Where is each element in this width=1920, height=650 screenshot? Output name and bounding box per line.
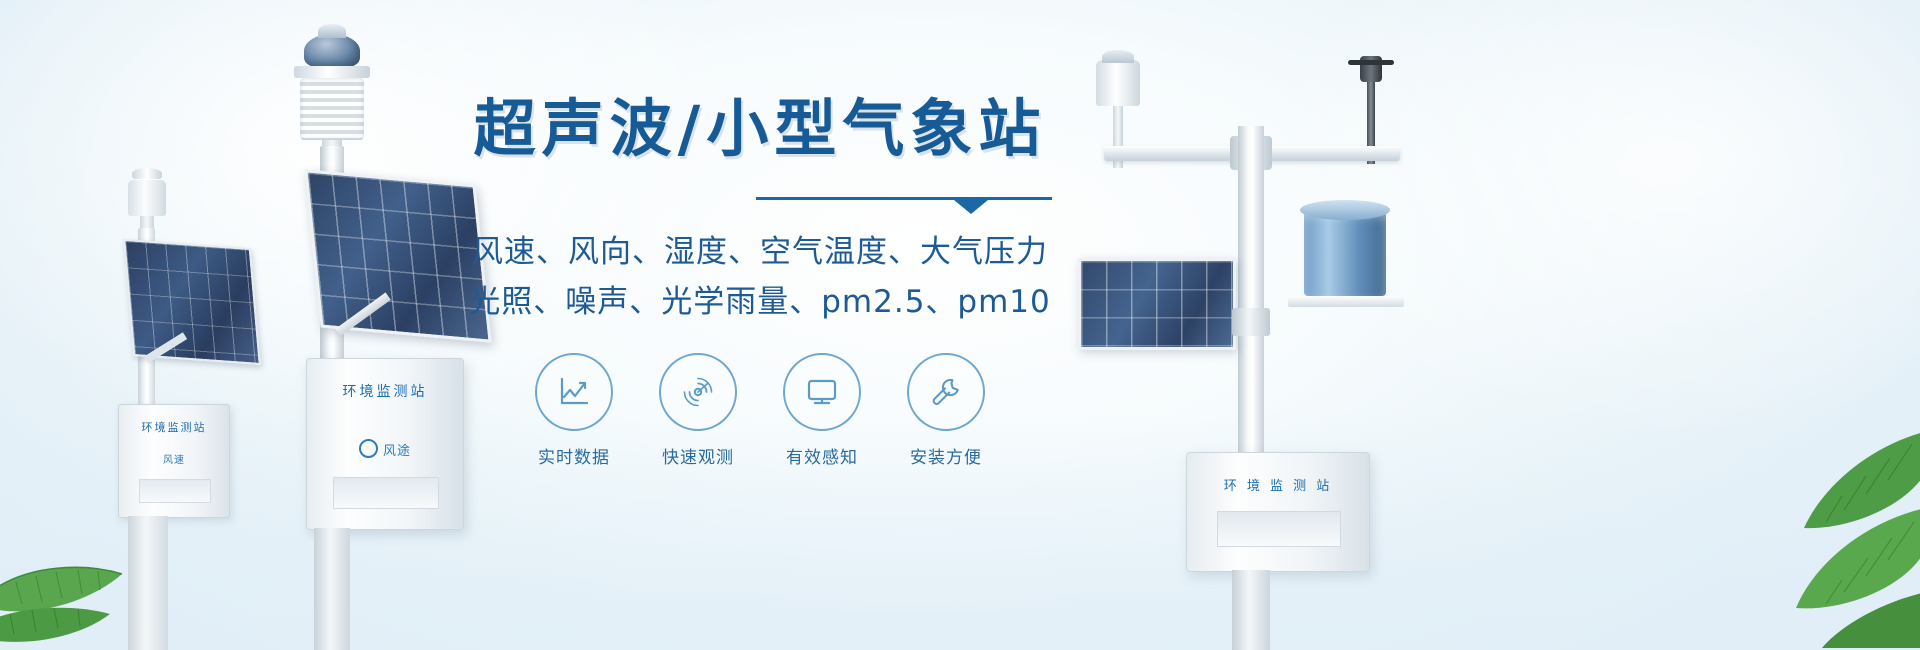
- brand-mark-icon: [359, 439, 378, 458]
- radar-signal-icon: [678, 372, 718, 412]
- cabinet-vent: [1217, 511, 1341, 547]
- divider-line: [756, 197, 1052, 200]
- title-divider: [756, 197, 1052, 215]
- radiation-shield: [300, 78, 364, 140]
- feature-label: 快速观测: [657, 443, 739, 468]
- feature-icon-circle: [783, 353, 861, 431]
- mast-base: [314, 528, 350, 650]
- line-chart-icon: [554, 372, 594, 412]
- mast-base: [1232, 570, 1270, 650]
- monitor-screen-icon: [802, 372, 842, 412]
- feature-list: 实时数据 快速观测: [440, 353, 1080, 468]
- feature-label: 有效感知: [781, 443, 863, 468]
- chevron-down-icon: [954, 200, 988, 214]
- ultrasonic-sensor-icon: [1096, 60, 1140, 106]
- decorative-leaf-right: [1626, 388, 1920, 648]
- feature-icon-circle: [907, 353, 985, 431]
- banner-content: 超声波/小型气象站 风速、风向、湿度、空气温度、大气压力 光照、噪声、光学雨量、…: [440, 96, 1080, 468]
- weather-station-right: 环 境 监 测 站: [1060, 40, 1420, 650]
- page-title: 超声波/小型气象站: [440, 96, 1080, 163]
- feature-item-effective-sensing[interactable]: 有效感知: [781, 353, 863, 468]
- decorative-leaf-left: [0, 470, 170, 650]
- feature-label: 实时数据: [533, 443, 615, 468]
- feature-label: 安装方便: [905, 443, 987, 468]
- ultrasonic-sensor-icon: [304, 34, 360, 68]
- subtitle-line-1: 风速、风向、湿度、空气温度、大气压力: [440, 227, 1080, 277]
- wrench-tool-icon: [926, 372, 966, 412]
- wind-vane-icon: [1360, 56, 1382, 82]
- radiation-shield-cap: [294, 66, 370, 78]
- solar-panel: [123, 239, 261, 365]
- solar-panel: [1078, 258, 1236, 350]
- control-cabinet: 环 境 监 测 站: [1186, 452, 1370, 572]
- feature-icon-circle: [535, 353, 613, 431]
- feature-item-realtime-data[interactable]: 实时数据: [533, 353, 615, 468]
- product-banner: 环境监测站 风速 环境监测站 风途 超声波/小型气象站 风速、风向、湿度、空气温…: [0, 0, 1920, 650]
- subtitle-block: 风速、风向、湿度、空气温度、大气压力 光照、噪声、光学雨量、pm2.5、pm10: [440, 227, 1080, 327]
- rain-gauge-icon: [1304, 210, 1386, 296]
- cabinet-label: 环境监测站: [119, 419, 229, 435]
- sensor-head-icon: [128, 176, 166, 216]
- brand-text: 风途: [383, 444, 411, 459]
- gauge-shelf: [1288, 296, 1404, 307]
- subtitle-line-2: 光照、噪声、光学雨量、pm2.5、pm10: [440, 277, 1080, 327]
- feature-item-fast-observation[interactable]: 快速观测: [657, 353, 739, 468]
- feature-icon-circle: [659, 353, 737, 431]
- feature-item-easy-install[interactable]: 安装方便: [905, 353, 987, 468]
- arm-clamp-lower: [1232, 308, 1270, 336]
- cabinet-brand: 风速: [119, 451, 229, 466]
- cabinet-vent: [333, 477, 439, 509]
- cabinet-label: 环 境 监 测 站: [1187, 475, 1369, 494]
